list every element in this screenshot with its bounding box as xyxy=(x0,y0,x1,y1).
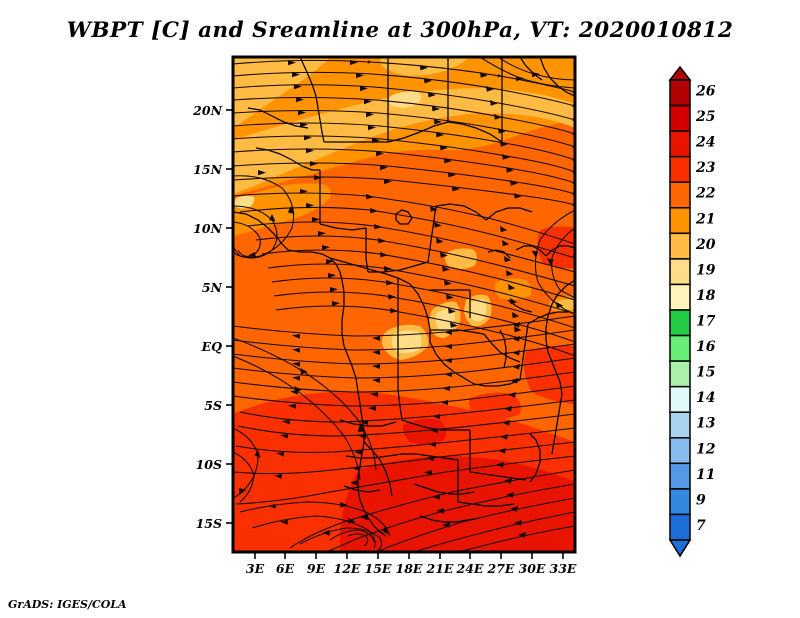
x-tick-label: 21E xyxy=(426,561,454,576)
y-tick-label: 15S xyxy=(196,516,222,531)
colorbar-band[interactable] xyxy=(670,284,690,310)
colorbar-band[interactable] xyxy=(670,157,690,183)
colorbar-tick-label: 26 xyxy=(695,84,716,100)
colorbar-band[interactable] xyxy=(670,310,690,336)
colorbar-band[interactable] xyxy=(670,412,690,438)
colorbar-tick-label: 15 xyxy=(696,365,715,381)
colorbar-tick-label: 19 xyxy=(696,262,716,278)
colorbar-extend-max-arrow xyxy=(670,67,690,80)
x-axis-labels: 3E 6E 9E 12E 15E 18E 21E 24E 27E 30E 33E xyxy=(246,561,577,576)
colorbar-extend-min-arrow xyxy=(670,540,690,556)
y-tick-label: 15N xyxy=(193,162,222,177)
x-tick-label: 18E xyxy=(396,561,423,576)
y-tick-label: EQ xyxy=(201,339,223,354)
colorbar-tick-label: 20 xyxy=(695,237,716,253)
colorbar-band[interactable] xyxy=(670,387,690,413)
colorbar-tick-label: 14 xyxy=(696,390,715,406)
x-tick-label: 30E xyxy=(519,561,546,576)
colorbar-tick-label: 17 xyxy=(696,314,716,330)
colorbar-band[interactable] xyxy=(670,514,690,540)
colorbar-band[interactable] xyxy=(670,106,690,132)
colorbar-tick-label: 16 xyxy=(696,339,716,355)
y-tick-label: 20N xyxy=(192,103,222,118)
colorbar-tick-label: 9 xyxy=(696,492,706,508)
y-tick-label: 5S xyxy=(204,398,222,413)
colorbar-band[interactable] xyxy=(670,233,690,259)
y-tick-label: 5N xyxy=(202,280,223,295)
credit-text: GrADS: IGES/COLA xyxy=(8,598,127,611)
y-tick-label: 10N xyxy=(193,221,222,236)
figure-root: WBPT [C] and Sreamline at 300hPa, VT: 20… xyxy=(0,0,800,618)
colorbar-tick-label: 7 xyxy=(696,518,706,534)
x-tick-label: 12E xyxy=(334,561,361,576)
colorbar-band[interactable] xyxy=(670,259,690,285)
x-tick-label: 27E xyxy=(487,561,515,576)
x-tick-label: 24E xyxy=(456,561,484,576)
colorbar-tick-label: 21 xyxy=(695,211,715,227)
colorbar-tick-label: 22 xyxy=(695,186,716,202)
colorbar-band[interactable] xyxy=(670,489,690,515)
chart-canvas: 20N 15N 10N 5N EQ 5S 10S 15S 3E 6E 9E 12… xyxy=(0,0,800,618)
colorbar-tick-label: 25 xyxy=(695,109,715,125)
colorbar-tick-label: 18 xyxy=(696,288,716,304)
colorbar-tick-label: 11 xyxy=(696,467,715,483)
colorbar-band[interactable] xyxy=(670,80,690,106)
y-tick-label: 10S xyxy=(196,457,222,472)
y-axis-labels: 20N 15N 10N 5N EQ 5S 10S 15S xyxy=(192,103,222,531)
colorbar-band[interactable] xyxy=(670,182,690,208)
colorbar-band[interactable] xyxy=(670,438,690,464)
colorbar-tick-label: 12 xyxy=(696,441,716,457)
x-tick-label: 15E xyxy=(365,561,392,576)
colorbar-tick-label: 13 xyxy=(696,416,716,432)
contour-fill-layer xyxy=(233,57,575,552)
colorbar[interactable]: 2625242322212019181716151413121197 xyxy=(670,67,716,556)
x-tick-label: 3E xyxy=(246,561,265,576)
colorbar-band[interactable] xyxy=(670,336,690,362)
colorbar-band[interactable] xyxy=(670,361,690,387)
colorbar-tick-label: 24 xyxy=(695,135,715,151)
colorbar-band[interactable] xyxy=(670,131,690,157)
colorbar-tick-label: 23 xyxy=(695,160,716,176)
colorbar-band[interactable] xyxy=(670,208,690,234)
x-tick-label: 9E xyxy=(307,561,326,576)
x-tick-label: 33E xyxy=(550,561,577,576)
x-tick-label: 6E xyxy=(276,561,295,576)
colorbar-band[interactable] xyxy=(670,463,690,489)
